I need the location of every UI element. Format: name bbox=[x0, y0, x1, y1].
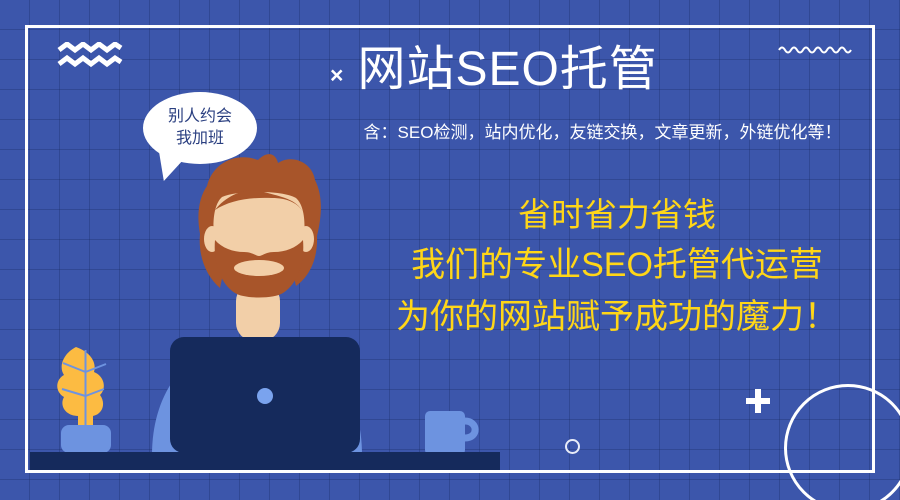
speech-bubble-line-2: 我加班 bbox=[176, 128, 224, 150]
speech-bubble-line-1: 别人约会 bbox=[168, 106, 232, 128]
small-circle-icon bbox=[565, 439, 580, 454]
coffee-mug-icon bbox=[425, 411, 475, 455]
title-bullet-icon: × bbox=[330, 64, 343, 87]
laptop-logo-icon bbox=[257, 388, 273, 404]
desk-surface bbox=[30, 452, 500, 473]
wave-lines-icon bbox=[57, 42, 123, 68]
slogan-line-1: 省时省力省钱 bbox=[362, 190, 872, 240]
person-mouth bbox=[234, 260, 284, 276]
plant-icon bbox=[57, 347, 111, 453]
title-row: × 网站SEO托管 bbox=[330, 44, 870, 97]
plus-icon bbox=[746, 389, 770, 413]
slogan-list: 省时省力省钱 我们的专业SEO托管代运营 为你的网站赋予成功的魔力！ bbox=[362, 190, 872, 344]
slogan-line-2: 我们的专业SEO托管代运营 bbox=[362, 240, 872, 292]
seo-promo-banner: 别人约会 我加班 × 网站SEO托管 含：SEO检测，站内优化，友链交换，文章更… bbox=[0, 0, 900, 500]
speech-bubble: 别人约会 我加班 bbox=[143, 92, 257, 164]
page-title: 网站SEO托管 bbox=[357, 44, 657, 97]
slogan-line-3: 为你的网站赋予成功的魔力！ bbox=[362, 292, 872, 344]
subtitle: 含：SEO检测，站内优化，友链交换，文章更新，外链优化等！ bbox=[330, 118, 875, 143]
